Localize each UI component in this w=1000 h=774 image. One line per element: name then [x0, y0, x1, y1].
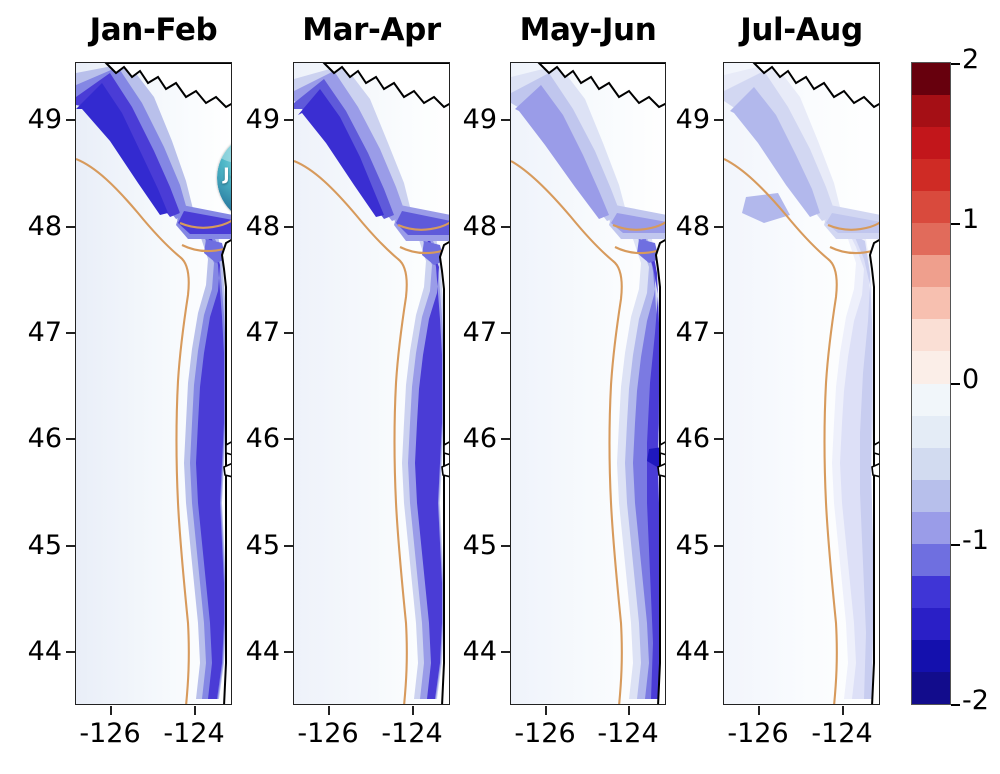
map-svg-0: [76, 63, 231, 704]
map-canvas-2: [511, 63, 665, 704]
x-tick-mark: [194, 706, 196, 715]
y-tick-label: 44: [435, 636, 497, 667]
y-tick-mark: [284, 438, 293, 440]
y-tick-label: 49: [0, 104, 62, 135]
x-tick-mark: [110, 706, 112, 715]
colorbar-band: [912, 287, 950, 320]
y-tick-mark: [284, 651, 293, 653]
y-tick-mark: [714, 438, 723, 440]
y-tick-mark: [284, 332, 293, 334]
x-tick-mark: [758, 706, 760, 715]
y-tick-label: 47: [0, 317, 62, 348]
colorbar-band: [912, 159, 950, 192]
x-tick-label: -124: [357, 718, 467, 749]
colorbar-band: [912, 127, 950, 160]
panel-title-3: Jul-Aug: [723, 12, 880, 48]
y-tick-mark: [66, 226, 75, 228]
y-tick-mark: [501, 332, 510, 334]
y-tick-label: 44: [218, 636, 280, 667]
map-panel-mar-apr[interactable]: [293, 62, 450, 705]
map-panel-jan-feb[interactable]: J-SCOPE: [75, 62, 232, 705]
y-tick-mark: [284, 545, 293, 547]
colorbar-band: [912, 351, 950, 384]
colorbar-band: [912, 319, 950, 352]
colorbar-band: [912, 416, 950, 449]
y-tick-label: 48: [0, 211, 62, 242]
y-tick-mark: [66, 438, 75, 440]
colorbar-band: [912, 448, 950, 481]
colorbar-tick-mark: [951, 383, 960, 385]
colorbar-tick-label: 1: [962, 204, 979, 235]
colorbar-band: [912, 480, 950, 513]
colorbar-tick-label: -2: [962, 685, 989, 716]
y-tick-label: 49: [648, 104, 710, 135]
y-tick-label: 49: [218, 104, 280, 135]
y-tick-mark: [501, 651, 510, 653]
y-tick-mark: [501, 226, 510, 228]
y-tick-mark: [284, 119, 293, 121]
colorbar-tick-mark: [951, 223, 960, 225]
map-panel-jul-aug[interactable]: [723, 62, 880, 705]
y-tick-label: 47: [648, 317, 710, 348]
map-canvas-3: [724, 63, 879, 704]
colorbar-tick-label: -1: [962, 525, 989, 556]
y-tick-label: 47: [218, 317, 280, 348]
y-tick-label: 48: [648, 211, 710, 242]
y-tick-mark: [501, 438, 510, 440]
j-scope-logo-text: J-SCOPE: [217, 165, 232, 185]
y-tick-label: 46: [0, 423, 62, 454]
y-tick-mark: [66, 332, 75, 334]
panel-title-1: Mar-Apr: [293, 12, 450, 48]
y-tick-mark: [501, 545, 510, 547]
colorbar-band: [912, 384, 950, 417]
colorbar-band: [912, 255, 950, 288]
x-tick-mark: [545, 706, 547, 715]
colorbar-tick-label: 2: [962, 44, 979, 75]
map-canvas-1: [294, 63, 449, 704]
colorbar-tick-mark: [951, 544, 960, 546]
colorbar-tick-label: 0: [962, 364, 979, 395]
y-tick-label: 46: [435, 423, 497, 454]
y-tick-label: 45: [435, 530, 497, 561]
colorbar-bands: [912, 63, 950, 704]
y-tick-label: 48: [218, 211, 280, 242]
colorbar-band: [912, 544, 950, 577]
colorbar-tick-mark: [951, 63, 960, 65]
y-tick-mark: [66, 545, 75, 547]
x-tick-label: -124: [573, 718, 683, 749]
colorbar-tick-mark: [951, 704, 960, 706]
y-tick-mark: [714, 332, 723, 334]
colorbar-band: [912, 640, 950, 673]
y-tick-label: 44: [0, 636, 62, 667]
colorbar-band: [912, 512, 950, 545]
y-tick-label: 48: [435, 211, 497, 242]
map-panel-may-jun[interactable]: [510, 62, 666, 705]
y-tick-label: 49: [435, 104, 497, 135]
y-tick-mark: [284, 226, 293, 228]
panel-title-0: Jan-Feb: [75, 12, 232, 48]
map-canvas-0: [76, 63, 231, 704]
map-svg-3: [724, 63, 879, 704]
figure-canvas: Jan-Feb Mar-Apr May-Jun Jul-Aug: [0, 0, 1000, 774]
x-tick-mark: [842, 706, 844, 715]
colorbar-band: [912, 191, 950, 224]
y-tick-label: 46: [648, 423, 710, 454]
y-tick-mark: [714, 119, 723, 121]
y-tick-mark: [714, 651, 723, 653]
y-tick-label: 44: [648, 636, 710, 667]
y-tick-label: 46: [218, 423, 280, 454]
y-tick-mark: [66, 651, 75, 653]
colorbar-band: [912, 223, 950, 256]
y-tick-label: 47: [435, 317, 497, 348]
y-tick-label: 45: [0, 530, 62, 561]
x-tick-mark: [412, 706, 414, 715]
y-tick-mark: [501, 119, 510, 121]
y-tick-mark: [714, 545, 723, 547]
x-tick-label: -124: [787, 718, 897, 749]
colorbar-band: [912, 576, 950, 609]
colorbar-band: [912, 672, 950, 705]
colorbar-band: [912, 608, 950, 641]
colorbar[interactable]: [911, 62, 951, 705]
y-tick-mark: [714, 226, 723, 228]
colorbar-band: [912, 95, 950, 128]
y-tick-label: 45: [648, 530, 710, 561]
panel-title-2: May-Jun: [510, 12, 666, 48]
colorbar-band: [912, 63, 950, 96]
x-tick-mark: [628, 706, 630, 715]
y-tick-label: 45: [218, 530, 280, 561]
y-tick-mark: [66, 119, 75, 121]
map-svg-2: [511, 63, 665, 704]
x-tick-mark: [328, 706, 330, 715]
map-svg-1: [294, 63, 449, 704]
x-tick-label: -124: [139, 718, 249, 749]
